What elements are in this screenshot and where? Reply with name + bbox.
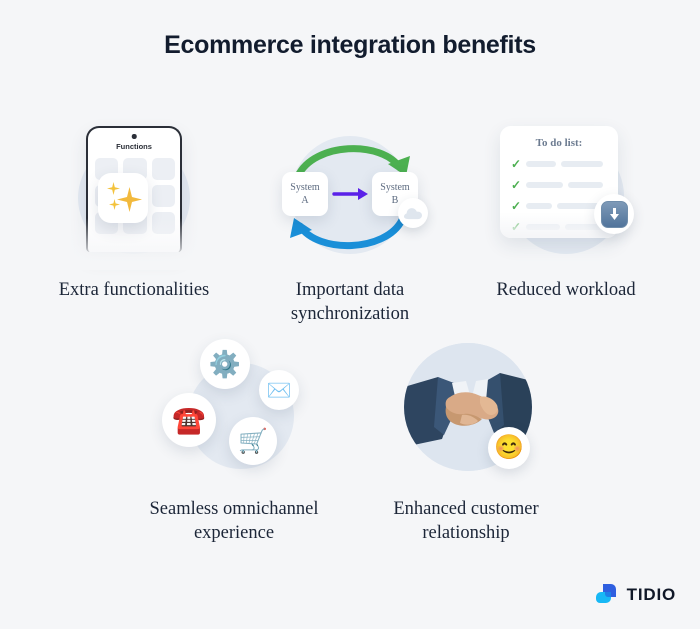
shopping-cart-icon: 🛒 [229, 417, 277, 465]
tidio-logo-glyph [594, 582, 619, 607]
todo-placeholder-bar [526, 203, 552, 210]
gear-icon: ⚙️ [200, 339, 250, 389]
benefit-card-reduced-workload: To do list: ✓ ✓ ✓ [458, 120, 674, 327]
illustration-two-system-sync: System A System B [270, 120, 430, 270]
todo-placeholder-bar [526, 161, 556, 168]
benefit-card-seamless-omnichannel-experience: ⚙️ ✉️ ☎️ 🛒 Seamless omnichannel experien… [118, 335, 350, 546]
illustration-channel-icons: ⚙️ ✉️ ☎️ 🛒 [154, 335, 314, 485]
download-arrow-icon [594, 194, 634, 234]
phone-camera-notch-icon [132, 134, 137, 139]
todo-placeholder-bar [561, 161, 603, 168]
benefit-card-enhanced-customer-relationship: 😊 Enhanced customer relationship [350, 335, 582, 546]
envelope-icon: ✉️ [259, 370, 299, 410]
tidio-logo[interactable]: TIDIO [594, 582, 676, 607]
app-tile [152, 158, 175, 180]
benefit-caption: Seamless omnichannel experience [134, 497, 334, 546]
illustration-todo-list: To do list: ✓ ✓ ✓ [486, 120, 646, 270]
cloud-glyph [404, 207, 422, 220]
page-title: Ecommerce integration benefits [0, 31, 700, 60]
illustration-handshake: 😊 [386, 335, 546, 485]
todo-list-item: ✓ [511, 158, 607, 170]
todo-placeholder-bar [568, 182, 603, 189]
right-arrow-icon [332, 186, 370, 202]
todo-placeholder-bar [526, 182, 563, 189]
down-arrow-glyph [608, 207, 621, 221]
system-a-label-line2: A [301, 194, 308, 207]
todo-list-item: ✓ [511, 179, 607, 191]
cloud-icon [398, 198, 428, 228]
system-b-label-line1: System [380, 181, 409, 194]
todo-list-item: ✓ [511, 200, 607, 212]
system-a-box: System A [282, 172, 328, 216]
system-b-label-line2: B [392, 194, 399, 207]
phone-fade-overlay [54, 218, 214, 270]
infographic-page: Ecommerce integration benefits Functions [0, 0, 700, 629]
phone-screen-label: Functions [88, 142, 180, 151]
download-square [601, 201, 628, 228]
telephone-icon: ☎️ [162, 393, 216, 447]
system-a-label-line1: System [290, 181, 319, 194]
benefit-caption: Extra functionalities [34, 278, 234, 302]
check-icon: ✓ [511, 158, 521, 170]
benefits-row-top: Functions [0, 120, 700, 327]
benefit-card-important-data-synchronization: System A System B Important data s [242, 120, 458, 327]
benefits-row-bottom: ⚙️ ✉️ ☎️ 🛒 Seamless omnichannel experien… [0, 335, 700, 546]
benefit-caption: Reduced workload [466, 278, 666, 302]
tidio-logo-icon [594, 582, 619, 607]
check-icon: ✓ [511, 179, 521, 191]
smiling-face-icon: 😊 [488, 427, 530, 469]
tidio-brand-name: TIDIO [627, 585, 676, 605]
benefit-card-extra-functionalities: Functions [26, 120, 242, 327]
check-icon: ✓ [511, 200, 521, 212]
app-tile [152, 185, 175, 207]
benefit-caption: Important data synchronization [250, 278, 450, 327]
todo-list-title: To do list: [511, 137, 607, 149]
benefit-caption: Enhanced customer relationship [366, 497, 566, 546]
illustration-phone-app-grid: Functions [54, 120, 214, 270]
sparkles-icon [98, 173, 148, 223]
